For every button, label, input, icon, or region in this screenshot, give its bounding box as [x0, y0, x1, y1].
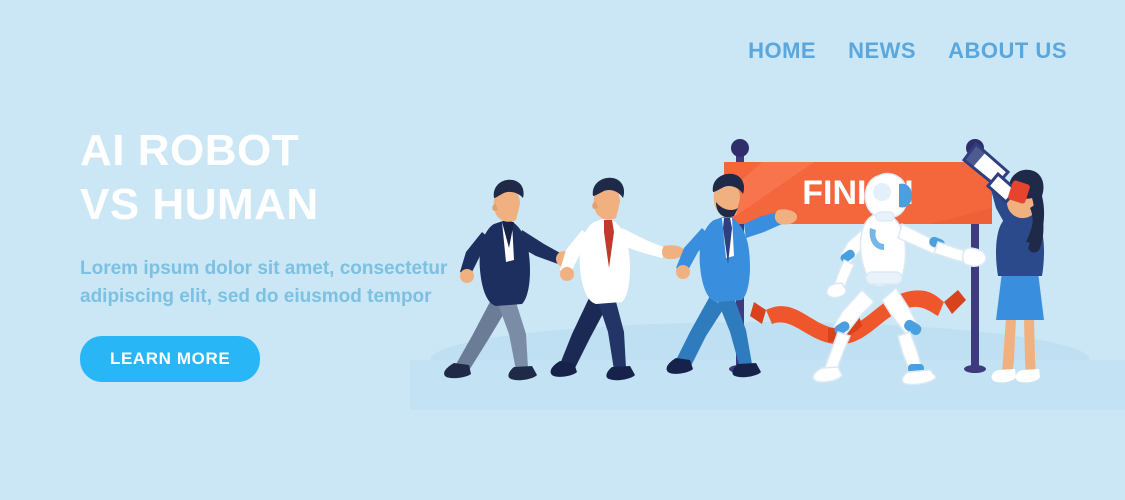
- woman-skirt: [996, 272, 1044, 320]
- top-navigation: HOME NEWS ABOUT US: [748, 38, 1067, 64]
- robot-back-hand: [827, 283, 846, 298]
- learn-more-button[interactable]: LEARN MORE: [80, 336, 260, 382]
- woman-right-leg: [1024, 318, 1036, 374]
- runner-1-back-hand: [460, 269, 474, 283]
- finish-pole-left-finial-icon: [731, 139, 749, 157]
- robot-neck-joint: [876, 212, 894, 221]
- finish-ribbon-tail-left: [750, 302, 766, 324]
- robot-eye-icon: [873, 183, 891, 201]
- nav-item-about-us[interactable]: ABOUT US: [948, 38, 1067, 64]
- robot-front-hand: [963, 248, 986, 266]
- runner-2-back-hand: [560, 267, 574, 281]
- finish-ribbon-tail-right: [944, 290, 966, 314]
- robot-waist-joint: [866, 272, 902, 284]
- race-illustration: FINISH: [410, 120, 1125, 410]
- runner-3-back-hand: [676, 265, 690, 279]
- nav-item-news[interactable]: NEWS: [848, 38, 916, 64]
- hero-banner: HOME NEWS ABOUT US AI ROBOT VS HUMAN Lor…: [0, 0, 1125, 500]
- nav-item-home[interactable]: HOME: [748, 38, 816, 64]
- finish-pole-right-base: [964, 365, 986, 373]
